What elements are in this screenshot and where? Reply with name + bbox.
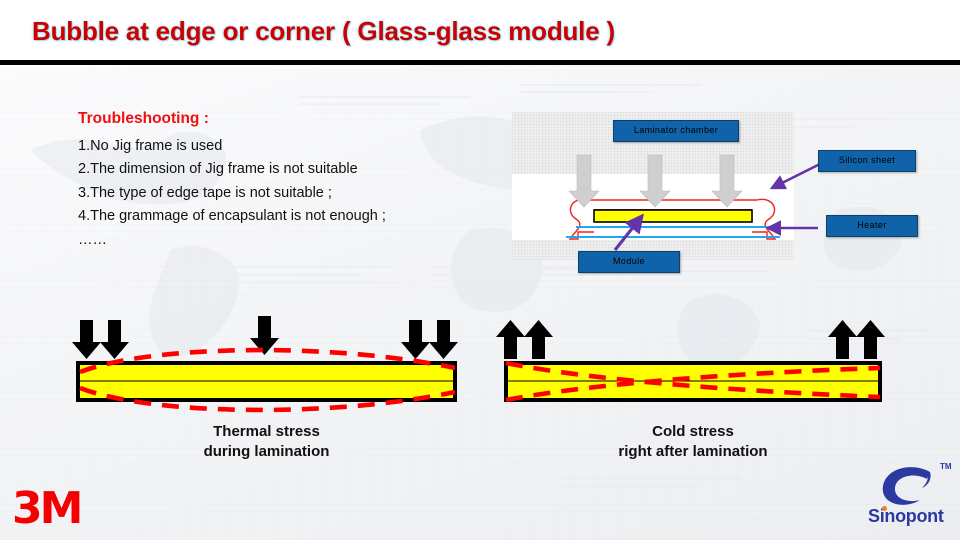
logo-sinopont: TM Sinopont xyxy=(868,462,958,534)
thermal-down-arrows xyxy=(72,316,458,359)
thermal-stress-caption: Thermal stress during lamination xyxy=(78,422,455,462)
cold-caption-line2: right after lamination xyxy=(506,442,880,462)
cold-caption-line1: Cold stress xyxy=(506,422,880,442)
thermal-caption-line1: Thermal stress xyxy=(78,422,455,442)
sinopont-trademark: TM xyxy=(940,462,952,471)
logo-3m: 3M xyxy=(12,487,80,531)
slide-canvas: Bubble at edge or corner ( Glass-glass m… xyxy=(0,0,960,540)
sinopont-i-dot-accent xyxy=(882,506,887,511)
cold-stress-caption: Cold stress right after lamination xyxy=(506,422,880,462)
thermal-caption-line2: during lamination xyxy=(78,442,455,462)
cold-up-arrows xyxy=(496,320,885,359)
